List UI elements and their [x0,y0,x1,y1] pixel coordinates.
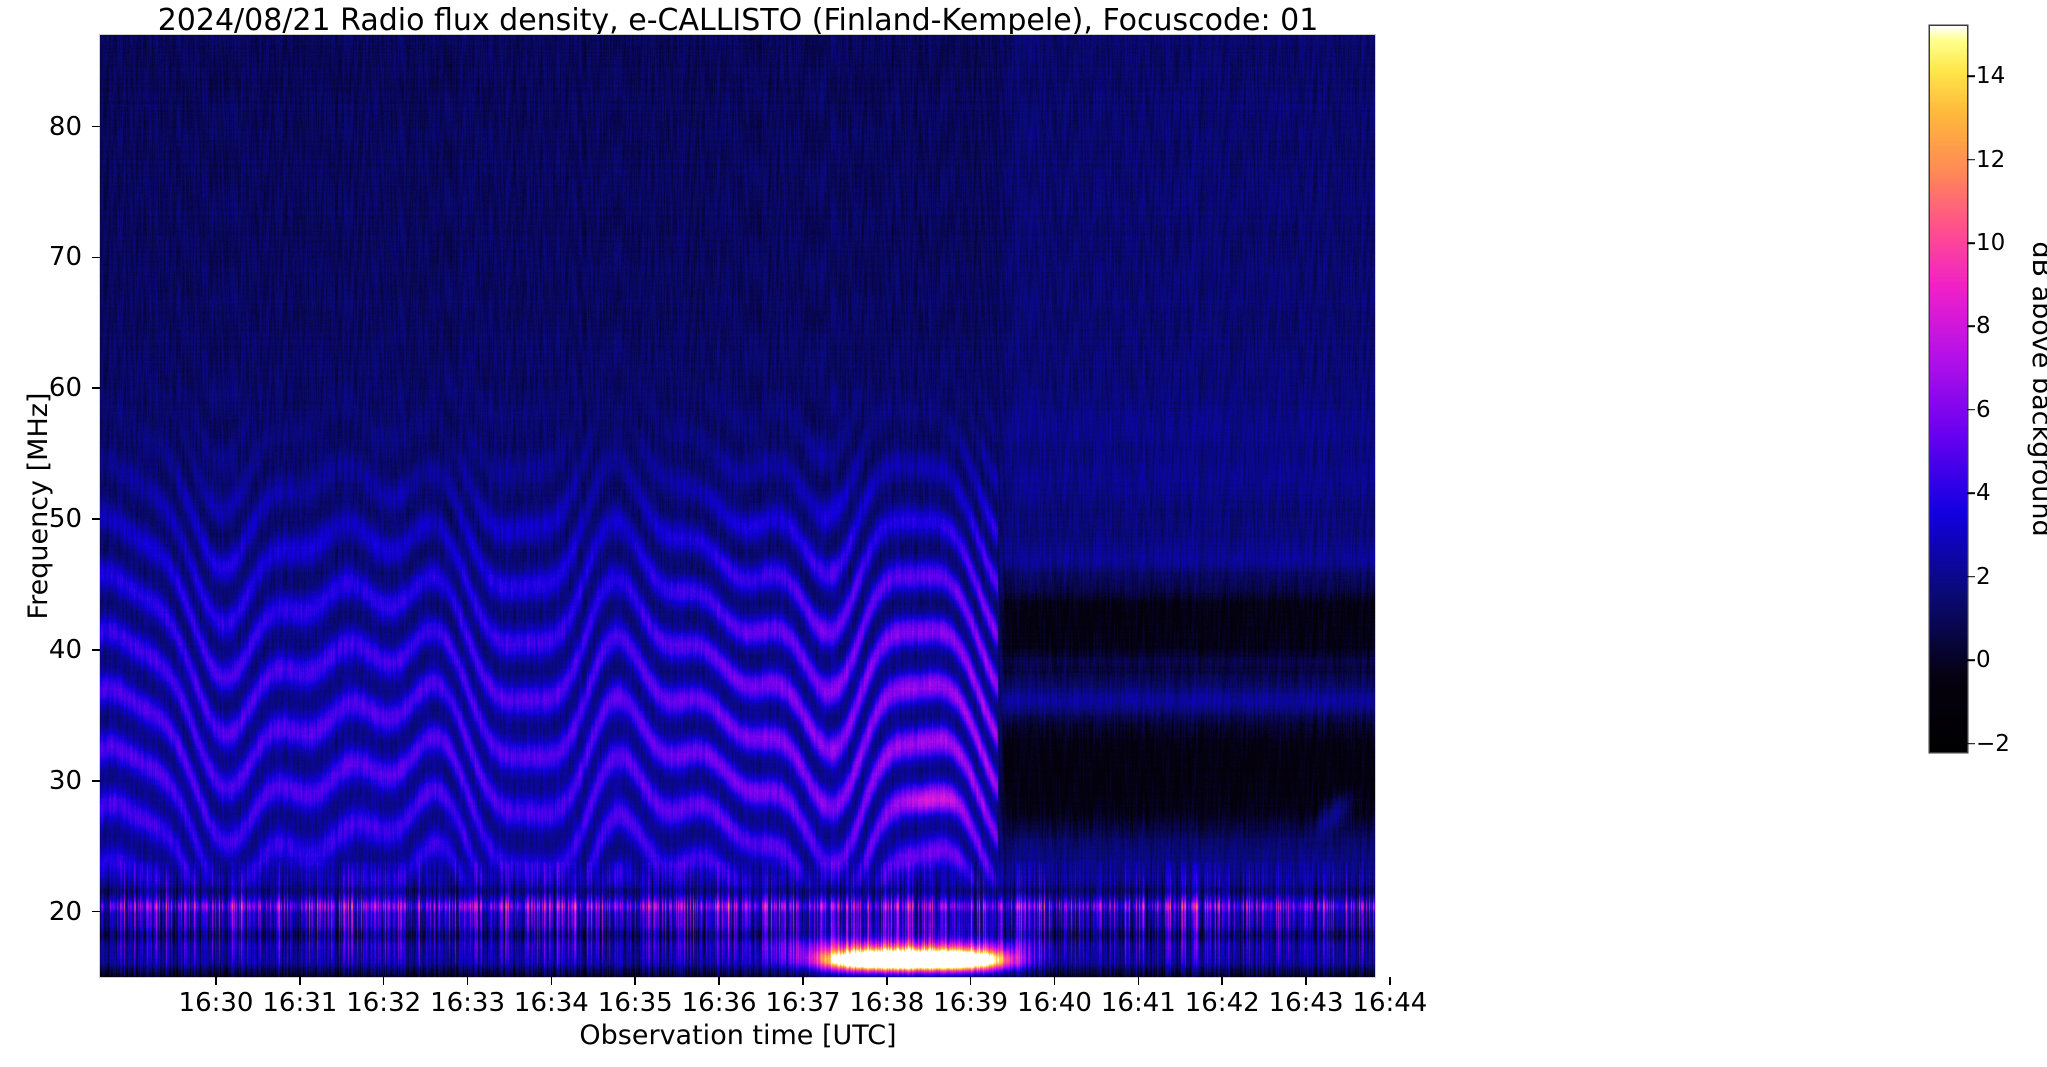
y-tick-mark [92,387,100,389]
colorbar-tick-label: 12 [1976,149,2005,172]
x-axis-label: Observation time [UTC] [100,1021,1376,1051]
colorbar-tick-label: 4 [1976,482,1991,505]
x-tick-mark [1138,977,1140,985]
x-tick-mark [1054,977,1056,985]
colorbar-gradient [1930,26,1967,752]
colorbar-tick-label: −2 [1976,733,2010,756]
y-tick-mark [92,126,100,128]
x-tick-mark [634,977,636,985]
colorbar-tick-mark [1967,409,1975,411]
figure-root: 2024/08/21 Radio flux density, e-CALLIST… [0,0,2047,1067]
x-tick-mark [551,977,553,985]
x-tick-mark [299,977,301,985]
x-tick-mark [1389,977,1391,985]
colorbar-tick-label: 6 [1976,399,1991,422]
colorbar-tick-mark [1967,743,1975,745]
y-tick-mark [92,518,100,520]
colorbar-tick-mark [1967,159,1975,161]
y-tick-mark [92,649,100,651]
colorbar-tick-mark [1967,326,1975,328]
x-tick-mark [718,977,720,985]
colorbar-label: dB above background [2024,26,2047,752]
colorbar-tick-label: 14 [1976,65,2005,88]
x-tick-mark [1221,977,1223,985]
x-tick-mark [802,977,804,985]
page-title: 2024/08/21 Radio flux density, e-CALLIST… [100,4,1376,38]
y-axis-label: Frequency [MHz] [22,35,56,977]
y-tick-mark [92,911,100,913]
y-tick-mark [92,257,100,259]
x-tick-label: 16:44 [1325,989,1455,1017]
colorbar-tick-label: 10 [1976,232,2005,255]
colorbar-tick-label: 0 [1976,649,1991,672]
x-tick-mark [886,977,888,985]
spectrogram-axes [100,35,1375,977]
y-tick-mark [92,780,100,782]
colorbar-tick-mark [1967,576,1975,578]
x-tick-mark [467,977,469,985]
spectrogram-image [100,35,1375,977]
colorbar-tick-mark [1967,75,1975,77]
x-tick-mark [1305,977,1307,985]
colorbar-tick-label: 8 [1976,315,1991,338]
colorbar-tick-label: 2 [1976,566,1991,589]
x-tick-mark [215,977,217,985]
x-tick-mark [383,977,385,985]
colorbar-tick-mark [1967,492,1975,494]
x-tick-mark [970,977,972,985]
colorbar [1930,26,1967,752]
colorbar-tick-mark [1967,659,1975,661]
colorbar-tick-mark [1967,242,1975,244]
